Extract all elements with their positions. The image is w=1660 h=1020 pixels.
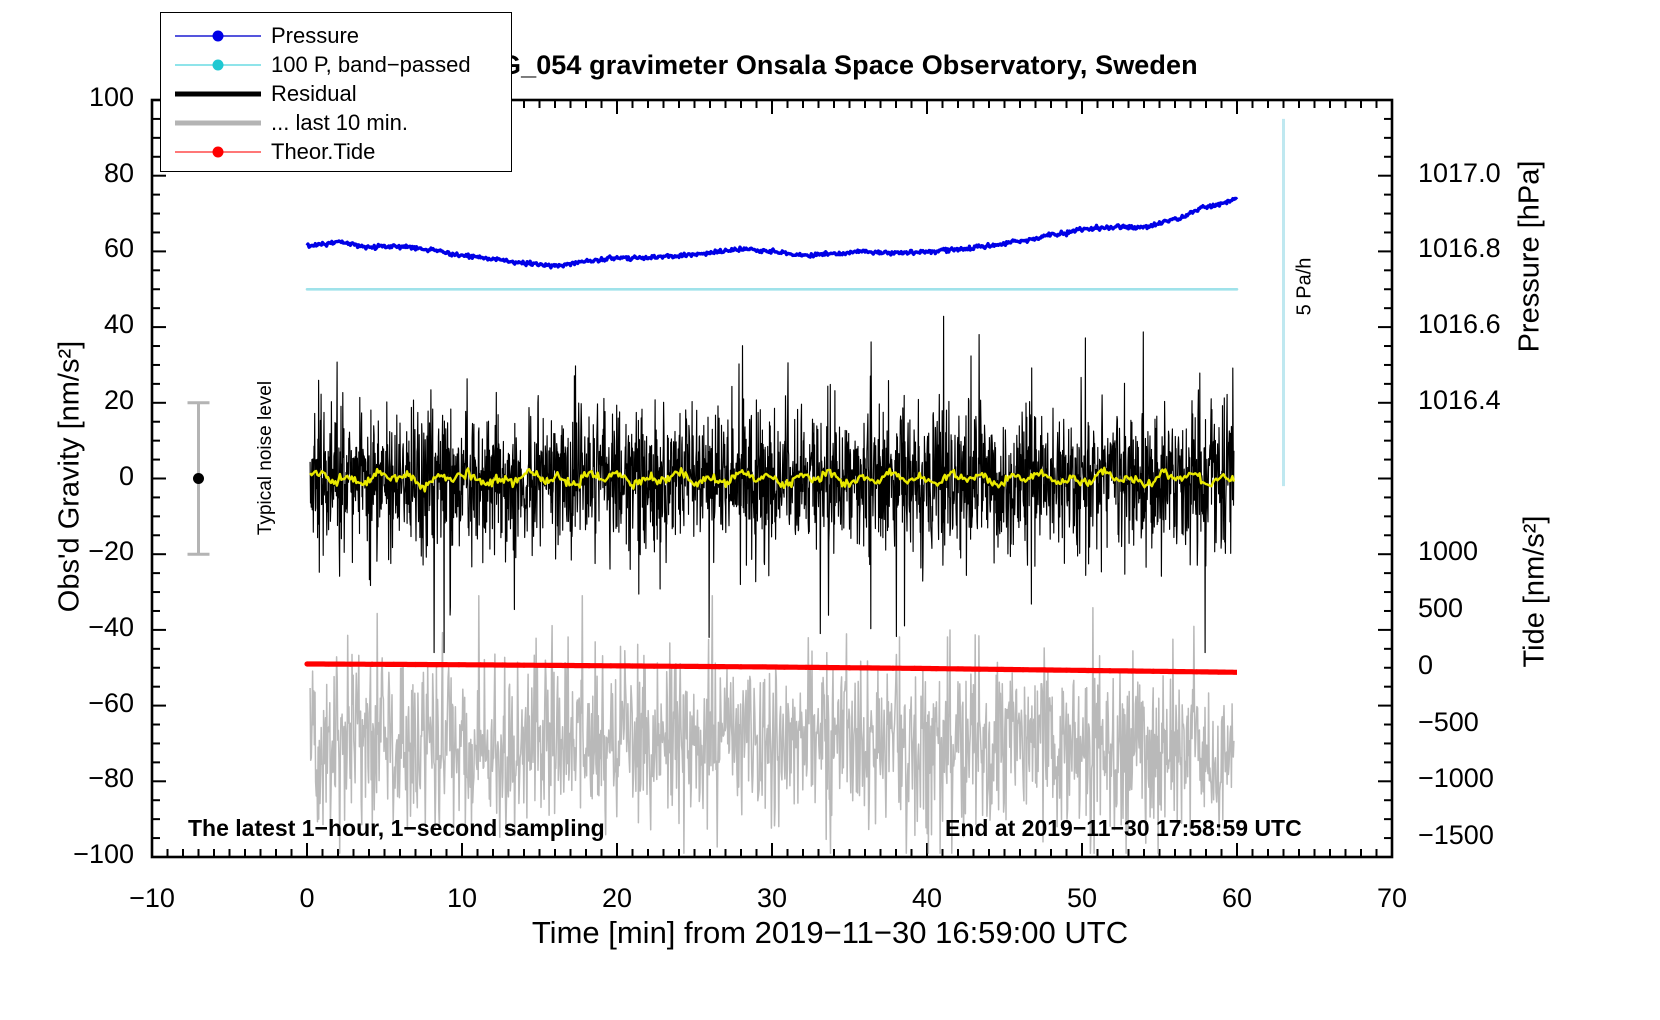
tide-marker xyxy=(912,666,917,671)
noise-level-annotation: Typical noise level xyxy=(255,358,277,558)
pressure-tick-label: 1016.8 xyxy=(1418,233,1558,264)
y-tick-label: 40 xyxy=(2,309,134,340)
x-tick-label: −10 xyxy=(92,883,212,914)
tide-marker xyxy=(348,662,353,667)
y-tick-label: 100 xyxy=(2,82,134,113)
tide-marker xyxy=(1151,669,1156,674)
legend-item-5[interactable]: Theor.Tide xyxy=(161,137,511,166)
tide-marker xyxy=(500,662,505,667)
series-residual xyxy=(310,316,1234,652)
footer-note-left: The latest 1−hour, 1−second sampling xyxy=(188,815,605,842)
x-tick-label: 50 xyxy=(1022,883,1142,914)
tide-marker xyxy=(673,664,678,669)
tide-marker xyxy=(456,662,461,667)
series-pressure xyxy=(307,198,1237,267)
x-tick-label: 10 xyxy=(402,883,522,914)
legend-item-label: Theor.Tide xyxy=(261,139,375,165)
legend-swatch-icon xyxy=(175,26,261,46)
pressure-tick-label: 1017.0 xyxy=(1418,158,1558,189)
legend-swatch-icon xyxy=(175,142,261,162)
tide-tick-label: 500 xyxy=(1418,593,1548,624)
tide-marker xyxy=(1172,669,1177,674)
tide-tick-label: 1000 xyxy=(1418,536,1548,567)
tide-marker xyxy=(890,666,895,671)
x-axis-label: Time [min] from 2019−11−30 16:59:00 UTC xyxy=(0,915,1660,951)
y-tick-label: −80 xyxy=(2,763,134,794)
tide-marker xyxy=(478,662,483,667)
tide-marker xyxy=(304,661,309,666)
legend-dot-icon xyxy=(213,146,224,157)
tide-marker xyxy=(717,664,722,669)
series-theoretical-tide xyxy=(307,664,1237,672)
tide-marker xyxy=(1086,668,1091,673)
tide-marker xyxy=(587,663,592,668)
y-tick-label: −20 xyxy=(2,536,134,567)
tide-marker xyxy=(847,665,852,670)
legend-item-4[interactable]: ... last 10 min. xyxy=(161,108,511,137)
pressure-scale-annotation: 5 Pa/h xyxy=(1294,222,1317,352)
tide-marker xyxy=(738,664,743,669)
y-tick-label: −60 xyxy=(2,688,134,719)
tide-marker xyxy=(1042,667,1047,672)
legend-item-3[interactable]: Residual xyxy=(161,79,511,108)
tide-tick-label: 0 xyxy=(1418,650,1548,681)
pressure-tick-label: 1016.6 xyxy=(1418,309,1558,340)
tide-marker xyxy=(1216,669,1221,674)
legend-item-label: 100 P, band−passed xyxy=(261,52,471,78)
x-tick-label: 60 xyxy=(1177,883,1297,914)
x-tick-label: 70 xyxy=(1332,883,1452,914)
legend-swatch-icon xyxy=(175,84,261,104)
legend-line xyxy=(175,91,261,96)
y-tick-label: −40 xyxy=(2,612,134,643)
tide-marker xyxy=(934,666,939,671)
legend: Pressure100 P, band−passedResidual... la… xyxy=(160,12,512,172)
tide-marker xyxy=(565,663,570,668)
legend-item-label: Residual xyxy=(261,81,357,107)
tide-marker xyxy=(608,663,613,668)
tide-tick-label: −500 xyxy=(1418,707,1548,738)
legend-dot-icon xyxy=(213,30,224,41)
tide-tick-label: −1000 xyxy=(1418,763,1548,794)
tide-marker xyxy=(630,663,635,668)
tide-marker xyxy=(391,662,396,667)
legend-item-1[interactable]: Pressure xyxy=(161,21,511,50)
tide-marker xyxy=(370,662,375,667)
tide-marker xyxy=(413,662,418,667)
chart-root: SCG_054 gravimeter Onsala Space Observat… xyxy=(0,0,1660,1020)
tide-marker xyxy=(825,665,830,670)
tide-marker xyxy=(521,663,526,668)
tide-marker xyxy=(869,665,874,670)
tide-marker xyxy=(1064,668,1069,673)
y-tick-label: −100 xyxy=(2,839,134,870)
footer-note-right: End at 2019−11−30 17:58:59 UTC xyxy=(945,815,1302,842)
tide-marker xyxy=(435,662,440,667)
x-tick-label: 30 xyxy=(712,883,832,914)
legend-item-label: Pressure xyxy=(261,23,359,49)
tide-marker xyxy=(999,667,1004,672)
tide-marker xyxy=(955,666,960,671)
tide-marker xyxy=(326,661,331,666)
x-tick-label: 0 xyxy=(247,883,367,914)
x-tick-label: 40 xyxy=(867,883,987,914)
noise-bar-center-dot xyxy=(193,473,204,484)
tide-marker xyxy=(782,665,787,670)
tide-marker xyxy=(1129,668,1134,673)
tide-marker xyxy=(1107,668,1112,673)
y-tick-label: 60 xyxy=(2,233,134,264)
tide-marker xyxy=(804,665,809,670)
legend-swatch-icon xyxy=(175,113,261,133)
legend-item-2[interactable]: 100 P, band−passed xyxy=(161,50,511,79)
y-tick-label: 80 xyxy=(2,158,134,189)
tide-tick-label: −1500 xyxy=(1418,820,1548,851)
legend-line xyxy=(175,120,261,125)
tide-marker xyxy=(652,664,657,669)
tide-marker xyxy=(695,664,700,669)
legend-item-label: ... last 10 min. xyxy=(261,110,408,136)
tide-marker xyxy=(760,664,765,669)
tide-marker xyxy=(1194,669,1199,674)
legend-swatch-icon xyxy=(175,55,261,75)
pressure-tick-label: 1016.4 xyxy=(1418,385,1558,416)
legend-dot-icon xyxy=(213,59,224,70)
tide-marker xyxy=(1021,667,1026,672)
tide-marker xyxy=(543,663,548,668)
y-tick-label: 20 xyxy=(2,385,134,416)
x-tick-label: 20 xyxy=(557,883,677,914)
tide-marker xyxy=(977,667,982,672)
y-tick-label: 0 xyxy=(2,461,134,492)
